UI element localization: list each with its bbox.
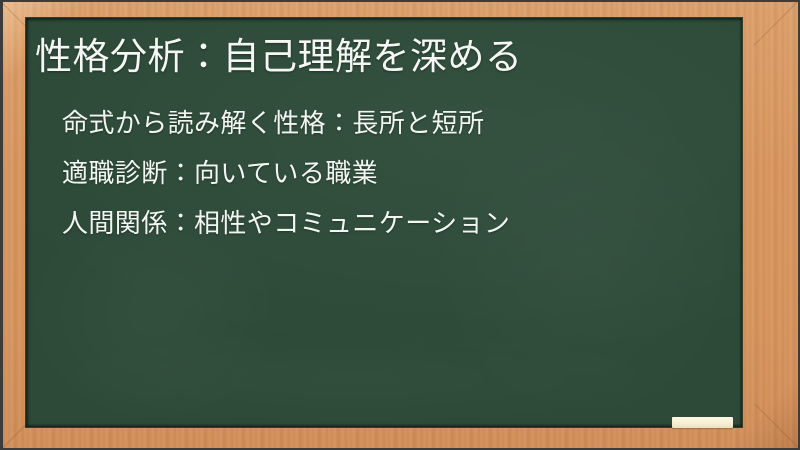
- bullet-item-3: 人間関係：相性やコミュニケーション: [62, 210, 510, 236]
- chalkboard-slide: 性格分析：自己理解を深める 命式から読み解く性格：長所と短所 適職診断：向いてい…: [0, 0, 800, 450]
- stage-background-top: [0, 0, 800, 2]
- bullet-item-2: 適職診断：向いている職業: [62, 160, 510, 186]
- frame-mitre-top-right: [753, 1, 798, 46]
- slide-title: 性格分析：自己理解を深める: [35, 35, 523, 79]
- bullet-item-1: 命式から読み解く性格：長所と短所: [62, 110, 510, 136]
- stage-background-left: [0, 0, 3, 450]
- chalk-stick: [672, 417, 733, 428]
- frame-mitre-bottom-right: [754, 403, 799, 448]
- bullet-list: 命式から読み解く性格：長所と短所 適職診断：向いている職業 人間関係：相性やコミ…: [62, 110, 510, 236]
- chalkboard-surface: 性格分析：自己理解を深める 命式から読み解く性格：長所と短所 適職診断：向いてい…: [26, 18, 742, 427]
